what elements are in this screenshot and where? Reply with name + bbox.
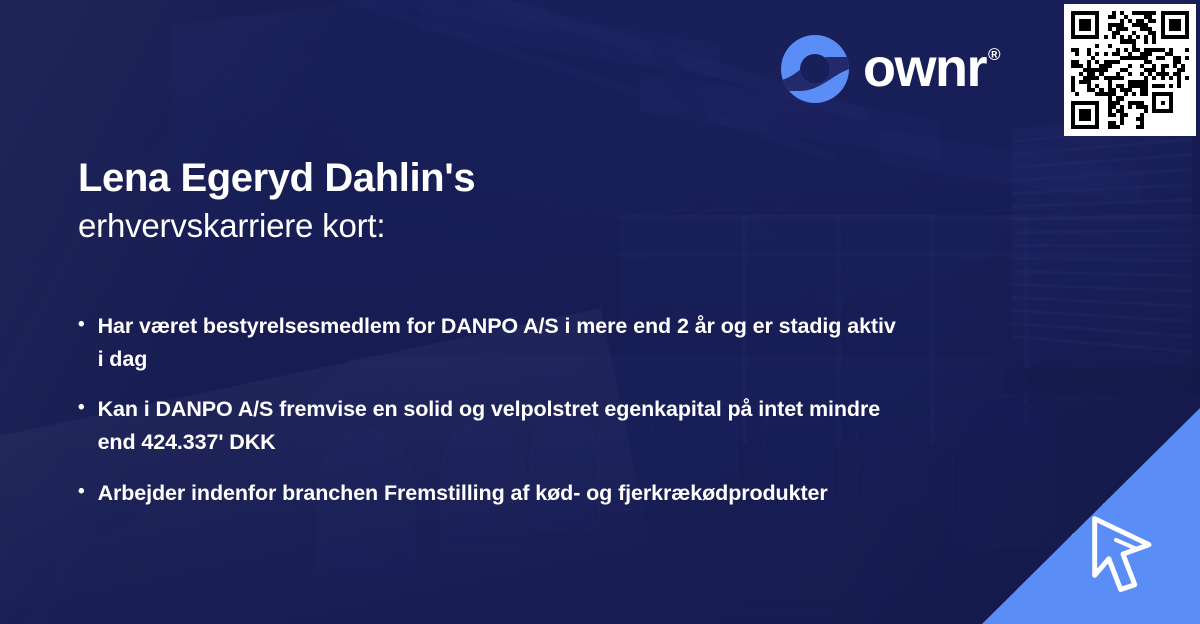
ownr-circle-swoosh-logo xyxy=(781,35,849,103)
list-item-text: Har været bestyrelsesmedlem for DANPO A/… xyxy=(98,310,898,375)
list-item-text: Arbejder indenfor branchen Fremstilling … xyxy=(98,477,828,510)
registered-trademark-symbol: ® xyxy=(988,47,999,63)
list-item: • Arbejder indenfor branchen Fremstillin… xyxy=(78,477,1098,510)
headline-line-2: erhvervskarriere kort: xyxy=(78,205,475,246)
headline-line-1: Lena Egeryd Dahlin's xyxy=(78,155,475,202)
ownr-wordmark: ownr ® xyxy=(863,43,999,94)
page-title: Lena Egeryd Dahlin's erhvervskarriere ko… xyxy=(78,155,475,246)
career-highlights-list: • Har været bestyrelsesmedlem for DANPO … xyxy=(78,310,1098,527)
qr-code[interactable] xyxy=(1064,4,1196,136)
bullet-icon: • xyxy=(78,393,85,458)
qr-code-grid xyxy=(1071,11,1189,129)
bullet-icon: • xyxy=(78,477,85,510)
list-item-text: Kan i DANPO A/S fremvise en solid og vel… xyxy=(98,393,898,458)
ownr-logo[interactable]: ownr ® xyxy=(781,35,999,103)
list-item: • Har været bestyrelsesmedlem for DANPO … xyxy=(78,310,1098,375)
bullet-icon: • xyxy=(78,310,85,375)
career-summary-card: ownr ® Lena Egeryd Dahlin's erhvervskarr… xyxy=(0,0,1200,624)
ownr-wordmark-text: ownr xyxy=(863,43,986,94)
list-item: • Kan i DANPO A/S fremvise en solid og v… xyxy=(78,393,1098,458)
